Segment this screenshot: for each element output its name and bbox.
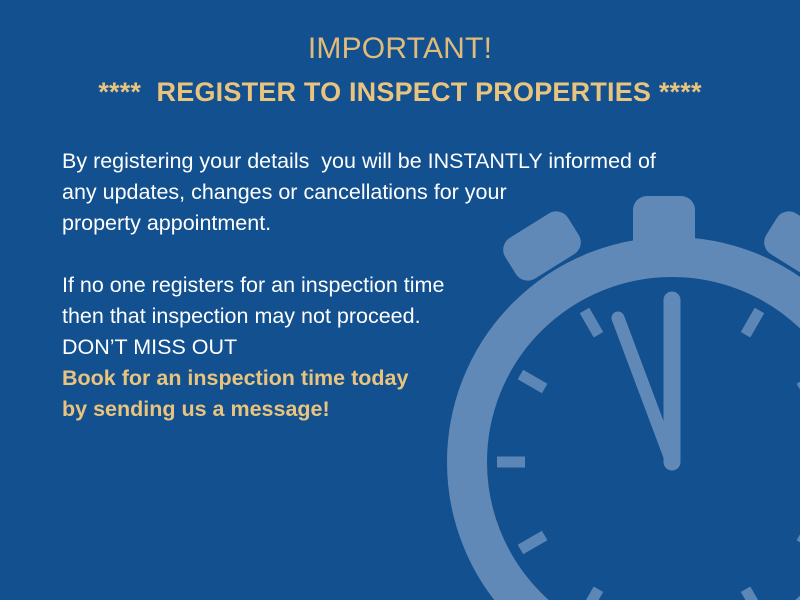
paragraph-1-line-3: property appointment. <box>62 208 722 239</box>
headline-important: IMPORTANT! <box>0 30 800 68</box>
headline-block: IMPORTANT! **** REGISTER TO INSPECT PROP… <box>0 30 800 110</box>
slide-content: IMPORTANT! **** REGISTER TO INSPECT PROP… <box>0 0 800 600</box>
headline-register: **** REGISTER TO INSPECT PROPERTIES **** <box>0 74 800 110</box>
paragraph-2-line-1: If no one registers for an inspection ti… <box>62 270 722 301</box>
paragraph-1-line-2: any updates, changes or cancellations fo… <box>62 177 722 208</box>
cta-dont-miss-out: DON’T MISS OUT <box>62 332 722 363</box>
cta-send-message: by sending us a message! <box>62 394 722 425</box>
paragraph-2-line-2: then that inspection may not proceed. <box>62 301 722 332</box>
body-block: By registering your details you will be … <box>62 146 722 425</box>
promotional-slide: IMPORTANT! **** REGISTER TO INSPECT PROP… <box>0 0 800 600</box>
paragraph-1-line-1: By registering your details you will be … <box>62 146 722 177</box>
cta-book-inspection: Book for an inspection time today <box>62 363 722 394</box>
